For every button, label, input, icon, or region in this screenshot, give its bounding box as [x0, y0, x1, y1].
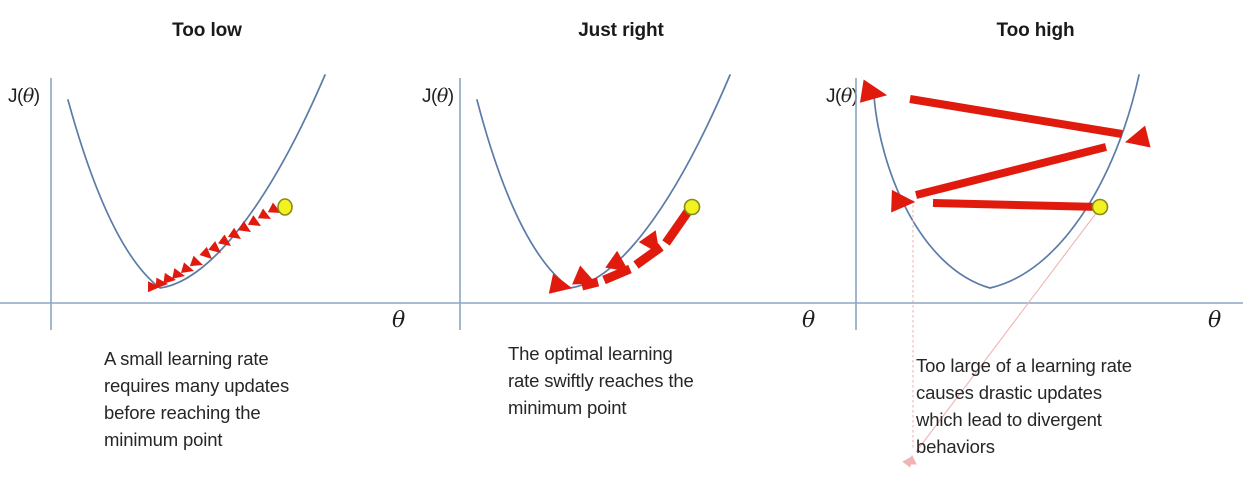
descent-arrows-too-low [148, 203, 284, 293]
panel-too-high: Too high J(θ) θ [828, 0, 1243, 480]
cost-curve [68, 75, 325, 288]
cost-curve [477, 75, 730, 288]
caption-too-low: A small learning rate requires many upda… [104, 345, 354, 453]
panel-too-low: Too low J(θ) θ [0, 0, 414, 480]
descent-arrows-just-right [549, 210, 689, 297]
learning-rate-figure: Too low J(θ) θ [0, 0, 1243, 480]
panel-just-right: Just right J(θ) θ [414, 0, 828, 480]
caption-just-right: The optimal learning rate swiftly reache… [508, 340, 768, 421]
start-point-marker [278, 199, 292, 215]
caption-too-high: Too large of a learning rate causes dras… [916, 352, 1226, 460]
cost-curve [874, 75, 1139, 288]
divergence-arrows [861, 80, 1150, 212]
start-point-marker [685, 200, 700, 215]
start-point-marker [1093, 200, 1108, 215]
